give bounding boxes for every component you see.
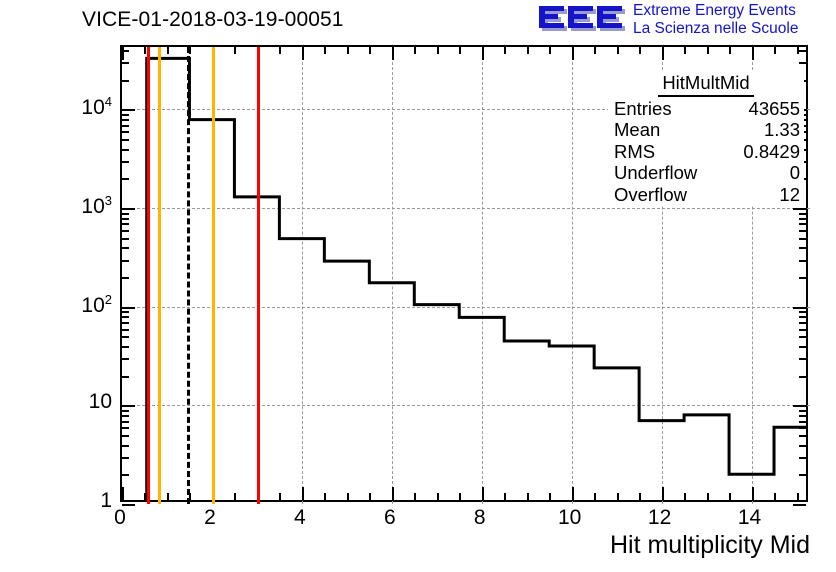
stats-row-value: 0.8429 — [743, 141, 800, 163]
x-tick-label: 4 — [280, 506, 320, 530]
stats-row-key: Entries — [614, 98, 672, 120]
eee-logo-line2: La Scienza nelle Scuole — [633, 20, 833, 38]
stats-row-key: RMS — [614, 141, 655, 163]
marker-line-red-low — [147, 47, 150, 504]
stats-row-key: Underflow — [614, 162, 697, 184]
stats-box: HitMultMid Entries43655Mean1.33RMS0.8429… — [608, 72, 804, 205]
marker-line-mean-dashed — [187, 47, 190, 504]
x-axis-title: Hit multiplicity Mid — [610, 531, 810, 560]
stats-row-value: 0 — [790, 162, 800, 184]
plot-canvas: VICE-01-2018-03-19-00051 Extreme Ene — [0, 0, 836, 572]
y-tick-label: 10 — [54, 390, 112, 414]
x-tick-label: 12 — [640, 506, 680, 530]
stats-box-rows: Entries43655Mean1.33RMS0.8429Underflow0O… — [608, 98, 804, 206]
stats-row-value: 1.33 — [764, 119, 800, 141]
x-tick-label: 2 — [190, 506, 230, 530]
stats-row-value: 12 — [779, 184, 800, 206]
stats-row: RMS0.8429 — [608, 141, 804, 163]
marker-line-orange-high — [212, 47, 215, 504]
x-tick-label: 14 — [730, 506, 770, 530]
stats-box-title: HitMultMid — [608, 72, 804, 98]
marker-line-orange-low — [158, 47, 161, 504]
y-tick-label: 1 — [54, 489, 112, 513]
x-tick-label: 6 — [370, 506, 410, 530]
eee-logo: Extreme Energy Events La Scienza nelle S… — [537, 2, 833, 40]
eee-logo-mark-icon — [537, 3, 629, 37]
x-tick-label: 8 — [460, 506, 500, 530]
eee-logo-line1: Extreme Energy Events — [633, 2, 833, 20]
stats-row: Overflow12 — [608, 184, 804, 206]
y-tick-label: 102 — [54, 292, 112, 318]
y-tick-label: 103 — [54, 193, 112, 219]
stats-row-key: Overflow — [614, 184, 687, 206]
stats-row: Mean1.33 — [608, 119, 804, 141]
y-tick-label: 104 — [54, 94, 112, 120]
page-title: VICE-01-2018-03-19-00051 — [82, 8, 344, 32]
stats-row-key: Mean — [614, 119, 660, 141]
stats-row-value: 43655 — [749, 98, 800, 120]
stats-row: Underflow0 — [608, 162, 804, 184]
x-tick-label: 10 — [550, 506, 590, 530]
stats-row: Entries43655 — [608, 98, 804, 120]
marker-line-red-high — [257, 47, 260, 504]
stats-box-title-text: HitMultMid — [658, 72, 753, 97]
eee-logo-text: Extreme Energy Events La Scienza nelle S… — [633, 2, 833, 38]
tick-mark — [793, 504, 806, 506]
